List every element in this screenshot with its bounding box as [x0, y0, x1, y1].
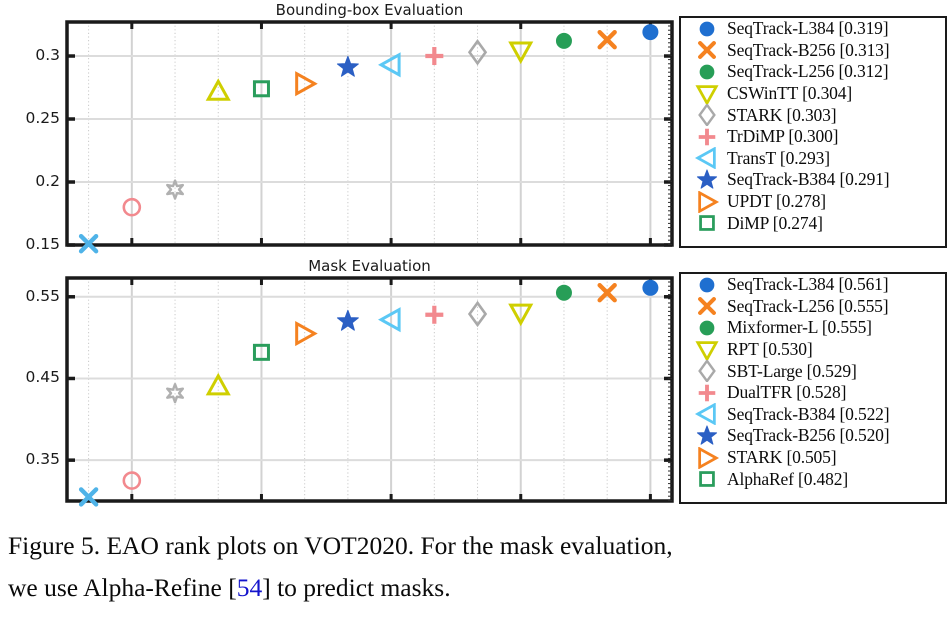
x-marker	[600, 32, 615, 47]
triangle-down-marker	[698, 342, 716, 359]
legend-marker-triangle-down	[687, 83, 727, 105]
legend-marker-circle	[687, 317, 727, 339]
legend-label: STARK [0.505]	[727, 447, 836, 468]
legend-label: SeqTrack-B384 [0.291]	[727, 169, 889, 190]
data-point-SeqTrack-B256[interactable]	[337, 310, 358, 330]
legend-label: SeqTrack-B384 [0.522]	[727, 404, 889, 425]
circle-marker	[700, 277, 715, 292]
legend-marker-x	[687, 295, 727, 317]
triangle-down-marker	[698, 86, 716, 103]
triangle-left-marker	[698, 405, 715, 423]
citation-link-54[interactable]: 54	[237, 573, 263, 602]
legend-item[interactable]: STARK [0.505]	[681, 447, 945, 469]
legend-label: TrDiMP [0.300]	[727, 126, 838, 147]
caption-line-2-pre: we use Alpha-Refine [	[8, 573, 237, 602]
legend-item[interactable]: SeqTrack-L384 [0.319]	[681, 18, 945, 40]
plus-marker	[425, 47, 443, 65]
caption-line-2-post: ] to predict masks.	[262, 573, 450, 602]
legend-item[interactable]: SeqTrack-B384 [0.291]	[681, 169, 945, 191]
triangle-up-marker	[208, 81, 228, 99]
y-tick-label: 0.3	[0, 46, 60, 64]
data-point-SeqTrack-L256[interactable]	[556, 33, 572, 49]
legend-marker-triangle-down	[687, 339, 727, 361]
legend-item[interactable]: TrDiMP [0.300]	[681, 126, 945, 148]
legend-marker-circle	[687, 274, 727, 296]
legend-item[interactable]: SeqTrack-B256 [0.313]	[681, 40, 945, 62]
legend-marker-x	[687, 39, 727, 61]
plus-marker	[699, 128, 716, 145]
legend-mask: SeqTrack-L384 [0.561]SeqTrack-L256 [0.55…	[679, 272, 947, 504]
legend-label: AlphaRef [0.482]	[727, 469, 848, 490]
plot-area-mask	[0, 256, 680, 511]
circle-marker	[556, 285, 572, 301]
data-point-SeqTrack-L384[interactable]	[642, 280, 658, 296]
figure-caption: Figure 5. EAO rank plots on VOT2020. For…	[8, 525, 951, 609]
legend-label: SeqTrack-B256 [0.313]	[727, 40, 889, 61]
star-open-marker	[167, 384, 183, 402]
x-marker	[700, 299, 714, 313]
circle-marker	[642, 280, 658, 296]
legend-marker-triangle-right	[687, 191, 727, 213]
plot-area-bounding-box	[0, 0, 680, 255]
legend-label: SeqTrack-L256 [0.555]	[727, 296, 888, 317]
legend-marker-diamond	[687, 104, 727, 126]
circle-marker	[700, 321, 715, 336]
legend-marker-circle	[687, 18, 727, 40]
figure-root: Bounding-box Evaluation SeqTrack-L384 [0…	[0, 0, 951, 620]
data-points	[81, 280, 658, 505]
legend-marker-triangle-right	[687, 447, 727, 469]
legend-item[interactable]: DiMP [0.274]	[681, 212, 945, 234]
legend-marker-plus	[687, 382, 727, 404]
legend-item[interactable]: AlphaRef [0.482]	[681, 468, 945, 490]
legend-item[interactable]: SBT-Large [0.529]	[681, 360, 945, 382]
legend-item[interactable]: CSWinTT [0.304]	[681, 83, 945, 105]
legend-label: SeqTrack-L384 [0.561]	[727, 274, 888, 295]
legend-item[interactable]: STARK [0.303]	[681, 104, 945, 126]
legend-label: SBT-Large [0.529]	[727, 361, 857, 382]
caption-line-1: Figure 5. EAO rank plots on VOT2020. For…	[8, 525, 951, 567]
legend-marker-triangle-left	[687, 403, 727, 425]
chart-panel-mask: Mask Evaluation	[0, 256, 680, 511]
legend-marker-plus	[687, 126, 727, 148]
data-points	[81, 24, 658, 251]
y-tick-label: 0.35	[0, 450, 60, 468]
legend-label: CSWinTT [0.304]	[727, 83, 852, 104]
x-marker	[600, 285, 615, 300]
y-tick-label: 0.25	[0, 109, 60, 127]
legend-bounding-box: SeqTrack-L384 [0.319]SeqTrack-B256 [0.31…	[679, 16, 947, 248]
circle-marker	[700, 65, 715, 80]
y-tick-label: 0.2	[0, 172, 60, 190]
legend-marker-diamond	[687, 360, 727, 382]
legend-marker-square	[687, 212, 727, 234]
data-point-CSWinTT-up[interactable]	[208, 81, 228, 99]
legend-item[interactable]: UPDT [0.278]	[681, 191, 945, 213]
legend-item[interactable]: SeqTrack-B256 [0.520]	[681, 425, 945, 447]
legend-label: SeqTrack-L256 [0.312]	[727, 61, 888, 82]
legend-label: STARK [0.303]	[727, 105, 836, 126]
legend-label: UPDT [0.278]	[727, 191, 826, 212]
diamond-marker	[700, 361, 715, 381]
triangle-left-marker	[698, 149, 715, 167]
y-tick-label: 0.15	[0, 235, 60, 253]
legend-label: RPT [0.530]	[727, 339, 813, 360]
triangle-right-marker	[700, 192, 717, 210]
star-marker	[697, 170, 716, 188]
legend-item[interactable]: SeqTrack-B384 [0.522]	[681, 404, 945, 426]
star-open-marker	[167, 181, 183, 199]
x-marker	[700, 43, 714, 57]
legend-marker-star	[687, 425, 727, 447]
star-marker	[697, 426, 716, 444]
data-point-SeqTrack-L384[interactable]	[642, 24, 658, 40]
legend-marker-circle	[687, 61, 727, 83]
legend-item[interactable]: DualTFR [0.528]	[681, 382, 945, 404]
legend-item[interactable]: SeqTrack-L256 [0.312]	[681, 61, 945, 83]
legend-label: SeqTrack-L384 [0.319]	[727, 18, 888, 39]
legend-item[interactable]: TransT [0.293]	[681, 148, 945, 170]
data-point-unlabeled-gray-star[interactable]	[167, 181, 183, 199]
caption-line-2: we use Alpha-Refine [54] to predict mask…	[8, 567, 951, 609]
plus-marker	[699, 384, 716, 401]
legend-marker-square	[687, 468, 727, 490]
square-marker	[701, 473, 714, 486]
data-point-unlabeled-gray-star[interactable]	[167, 384, 183, 402]
horizontal-gridlines	[67, 297, 672, 460]
circle-marker	[556, 33, 572, 49]
axis-frame	[67, 278, 672, 501]
legend-label: TransT [0.293]	[727, 148, 830, 169]
legend-label: Mixformer-L [0.555]	[727, 317, 872, 338]
legend-label: DiMP [0.274]	[727, 213, 823, 234]
y-tick-label: 0.55	[0, 287, 60, 305]
circle-marker	[642, 24, 658, 40]
star-marker	[337, 310, 358, 330]
legend-item[interactable]: SeqTrack-L256 [0.555]	[681, 296, 945, 318]
horizontal-gridlines	[67, 56, 672, 245]
legend-marker-star	[687, 169, 727, 191]
data-point-DualTFR[interactable]	[425, 306, 443, 324]
triangle-right-marker	[700, 448, 717, 466]
legend-label: SeqTrack-B256 [0.520]	[727, 425, 889, 446]
data-point-TrDiMP[interactable]	[425, 47, 443, 65]
y-tick-label: 0.45	[0, 368, 60, 386]
triangle-right-marker	[297, 324, 315, 344]
legend-marker-triangle-left	[687, 147, 727, 169]
legend-item[interactable]: RPT [0.530]	[681, 339, 945, 361]
triangle-right-marker	[297, 74, 315, 94]
data-point-UPDT[interactable]	[297, 74, 315, 94]
data-point-SeqTrack-L256[interactable]	[600, 285, 615, 300]
diamond-marker	[700, 105, 715, 125]
plus-marker	[425, 306, 443, 324]
legend-item[interactable]: SeqTrack-L384 [0.561]	[681, 274, 945, 296]
data-point-STARK[interactable]	[297, 324, 315, 344]
data-point-SeqTrack-B256[interactable]	[600, 32, 615, 47]
circle-marker	[700, 21, 715, 36]
data-point-Mixformer-L[interactable]	[556, 285, 572, 301]
chart-panel-bounding-box: Bounding-box Evaluation	[0, 0, 680, 255]
legend-item[interactable]: Mixformer-L [0.555]	[681, 317, 945, 339]
legend-label: DualTFR [0.528]	[727, 382, 846, 403]
square-marker	[701, 217, 714, 230]
